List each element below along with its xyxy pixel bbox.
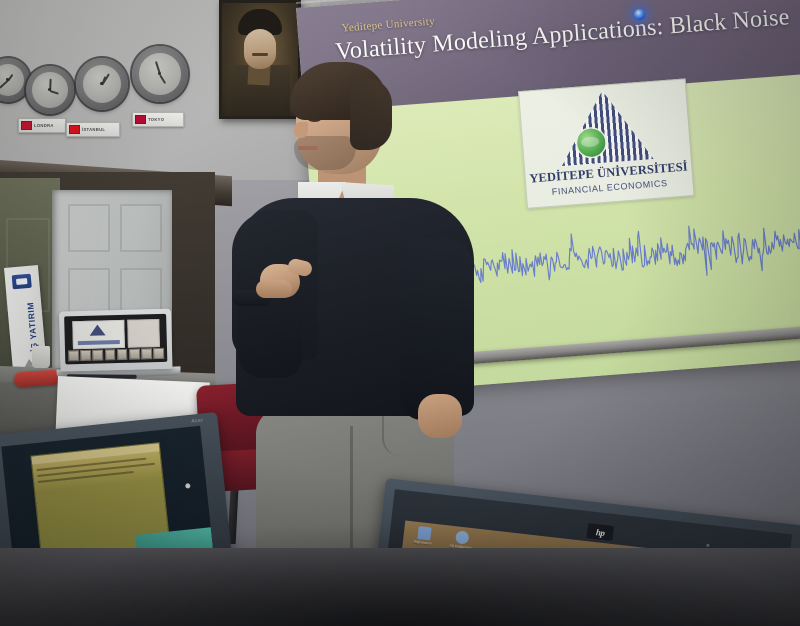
- slide-thumbnail[interactable]: [80, 350, 91, 361]
- slide-thumbnail[interactable]: [129, 348, 140, 359]
- wall-clock-newyork: [132, 46, 188, 102]
- clock-label-istanbul: İSTANBUL: [66, 122, 120, 137]
- foreground-shadow: [0, 520, 800, 626]
- laptop-notes-pane: [127, 319, 160, 348]
- slide-thumbnail[interactable]: [92, 349, 103, 360]
- flag-icon: [21, 121, 32, 130]
- hour-hand: [50, 90, 59, 95]
- clock-city-label: TOKYO: [148, 117, 164, 122]
- university-logo: YEDİTEPE ÜNİVERSİTESİ FINANCIAL ECONOMIC…: [518, 78, 695, 209]
- clock-face: [32, 72, 68, 108]
- laptop-slide-title-bar: [78, 340, 120, 345]
- laptop-current-slide: [72, 320, 125, 349]
- logo-triangle-icon: [556, 87, 653, 166]
- presenter-beard-shadow: [294, 136, 356, 170]
- clock-label-london: LONDRA: [18, 118, 66, 133]
- laptop-lid: [59, 309, 173, 372]
- flag-icon: [135, 115, 146, 124]
- portrait-moustache: [252, 53, 268, 56]
- laptop-slide-triangle-icon: [89, 324, 105, 335]
- desk-cup: [32, 346, 50, 368]
- clock-face: [0, 64, 24, 97]
- slide-thumbnail[interactable]: [68, 350, 79, 361]
- door-panel: [120, 204, 162, 252]
- window-titlebar[interactable]: [31, 443, 159, 464]
- clock-label-tokyo: TOKYO: [132, 112, 184, 127]
- slide-thumbnail[interactable]: [105, 349, 116, 360]
- slide-thumbnail[interactable]: [153, 348, 164, 359]
- slide-thumbnail[interactable]: [141, 348, 152, 359]
- presenter-gesturing-hand: [254, 256, 308, 304]
- laptop-screen[interactable]: [64, 314, 167, 365]
- lecture-hall-photo: LONDRA İSTANBUL TOKYO Yeditepe Universit…: [0, 0, 800, 626]
- clock-face: [83, 65, 121, 103]
- clock-face: [139, 53, 180, 94]
- presenter-right-arm: [400, 238, 474, 420]
- wall-clock-tokyo: [76, 58, 128, 110]
- clock-city-label: LONDRA: [34, 123, 54, 128]
- red-pencil-case: [14, 369, 61, 387]
- left-monitor-cursor: [185, 483, 190, 488]
- door-panel: [68, 204, 110, 252]
- presenter-right-hand: [418, 394, 462, 438]
- laptop-slide-thumbnails[interactable]: [68, 348, 164, 362]
- projector-led-icon: [634, 9, 645, 20]
- wall-clock-istanbul: [26, 66, 74, 114]
- flag-icon: [69, 125, 80, 134]
- clock-city-label: İSTANBUL: [82, 127, 105, 132]
- presenter-mouth: [298, 146, 318, 150]
- presenter-nose: [294, 122, 308, 138]
- presenter-hair-side: [350, 78, 392, 150]
- slide-thumbnail[interactable]: [117, 349, 128, 360]
- minute-hand: [0, 80, 9, 89]
- hand-fingers: [256, 280, 292, 298]
- left-monitor-brand: Acer: [191, 417, 204, 424]
- hour-hand: [159, 74, 166, 83]
